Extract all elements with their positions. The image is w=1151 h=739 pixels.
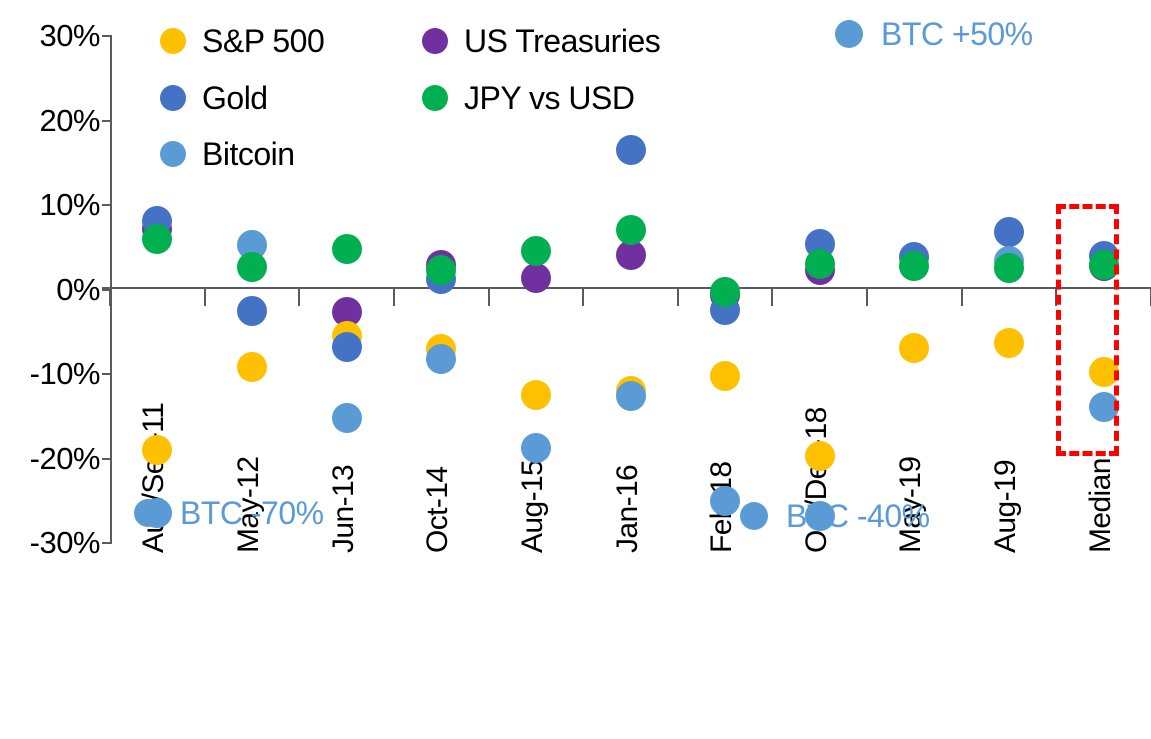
- data-point: [710, 361, 740, 391]
- data-point: [332, 332, 362, 362]
- legend-item-bitcoin[interactable]: Bitcoin: [160, 138, 295, 170]
- legend-label-gold: Gold: [202, 82, 268, 114]
- legend-label-us-treasuries: US Treasuries: [464, 25, 660, 57]
- legend-item-us-treasuries[interactable]: US Treasuries: [422, 25, 660, 57]
- y-axis-tick-label: -30%: [4, 527, 100, 558]
- data-point: [237, 252, 267, 282]
- data-point: [332, 403, 362, 433]
- data-point: [994, 217, 1024, 247]
- data-point: [142, 224, 172, 254]
- data-point: [521, 236, 551, 266]
- data-point: [616, 135, 646, 165]
- y-axis-tick-label: 0%: [4, 274, 100, 305]
- data-point: [521, 433, 551, 463]
- data-point: [237, 352, 267, 382]
- data-point: [521, 380, 551, 410]
- data-point: [710, 277, 740, 307]
- data-point: [994, 328, 1024, 358]
- y-axis-tick-label: 30%: [4, 20, 100, 51]
- y-axis-tick-label: 20%: [4, 105, 100, 136]
- y-axis-tick-label: -20%: [4, 443, 100, 474]
- data-point: [237, 296, 267, 326]
- data-point: [616, 215, 646, 245]
- annotation-btc-minus-70: BTC -70%: [134, 497, 324, 529]
- legend-swatch-bitcoin: [160, 141, 186, 167]
- legend-swatch-gold: [160, 85, 186, 111]
- annotation-label-btc-minus-40: BTC -40%: [786, 500, 930, 532]
- legend-swatch-jpy-vs-usd: [422, 85, 448, 111]
- data-point: [426, 344, 456, 374]
- data-point: [616, 381, 646, 411]
- annotation-swatch-btc-minus-40: [740, 502, 768, 530]
- legend-swatch-us-treasuries: [422, 28, 448, 54]
- y-axis-tick-label: 10%: [4, 189, 100, 220]
- median-highlight-box: [1056, 204, 1119, 456]
- legend-swatch-sp500: [160, 28, 186, 54]
- data-point: [994, 253, 1024, 283]
- data-point: [899, 333, 929, 363]
- data-point: [521, 263, 551, 293]
- legend-item-sp500[interactable]: S&P 500: [160, 25, 324, 57]
- data-point: [332, 234, 362, 264]
- y-axis-tick-label: -10%: [4, 358, 100, 389]
- legend-item-gold[interactable]: Gold: [160, 82, 268, 114]
- legend-label-jpy-vs-usd: JPY vs USD: [464, 82, 634, 114]
- data-point: [710, 486, 740, 516]
- annotation-label-btc-plus-50: BTC +50%: [881, 18, 1033, 50]
- annotation-swatch-btc-plus-50: [835, 20, 863, 48]
- chart-container: 30%20%10%0%-10%-20%-30% Aug/Sep-11May-12…: [0, 0, 1151, 739]
- annotation-btc-plus-50: BTC +50%: [835, 18, 1033, 50]
- data-point: [805, 441, 835, 471]
- data-point: [899, 251, 929, 281]
- data-point: [805, 249, 835, 279]
- legend-label-sp500: S&P 500: [202, 25, 324, 57]
- annotation-btc-minus-40: BTC -40%: [740, 500, 930, 532]
- legend-item-jpy-vs-usd[interactable]: JPY vs USD: [422, 82, 634, 114]
- data-point: [142, 435, 172, 465]
- annotation-label-btc-minus-70: BTC -70%: [180, 497, 324, 529]
- legend-label-bitcoin: Bitcoin: [202, 138, 295, 170]
- annotation-swatch-btc-minus-70: [134, 499, 162, 527]
